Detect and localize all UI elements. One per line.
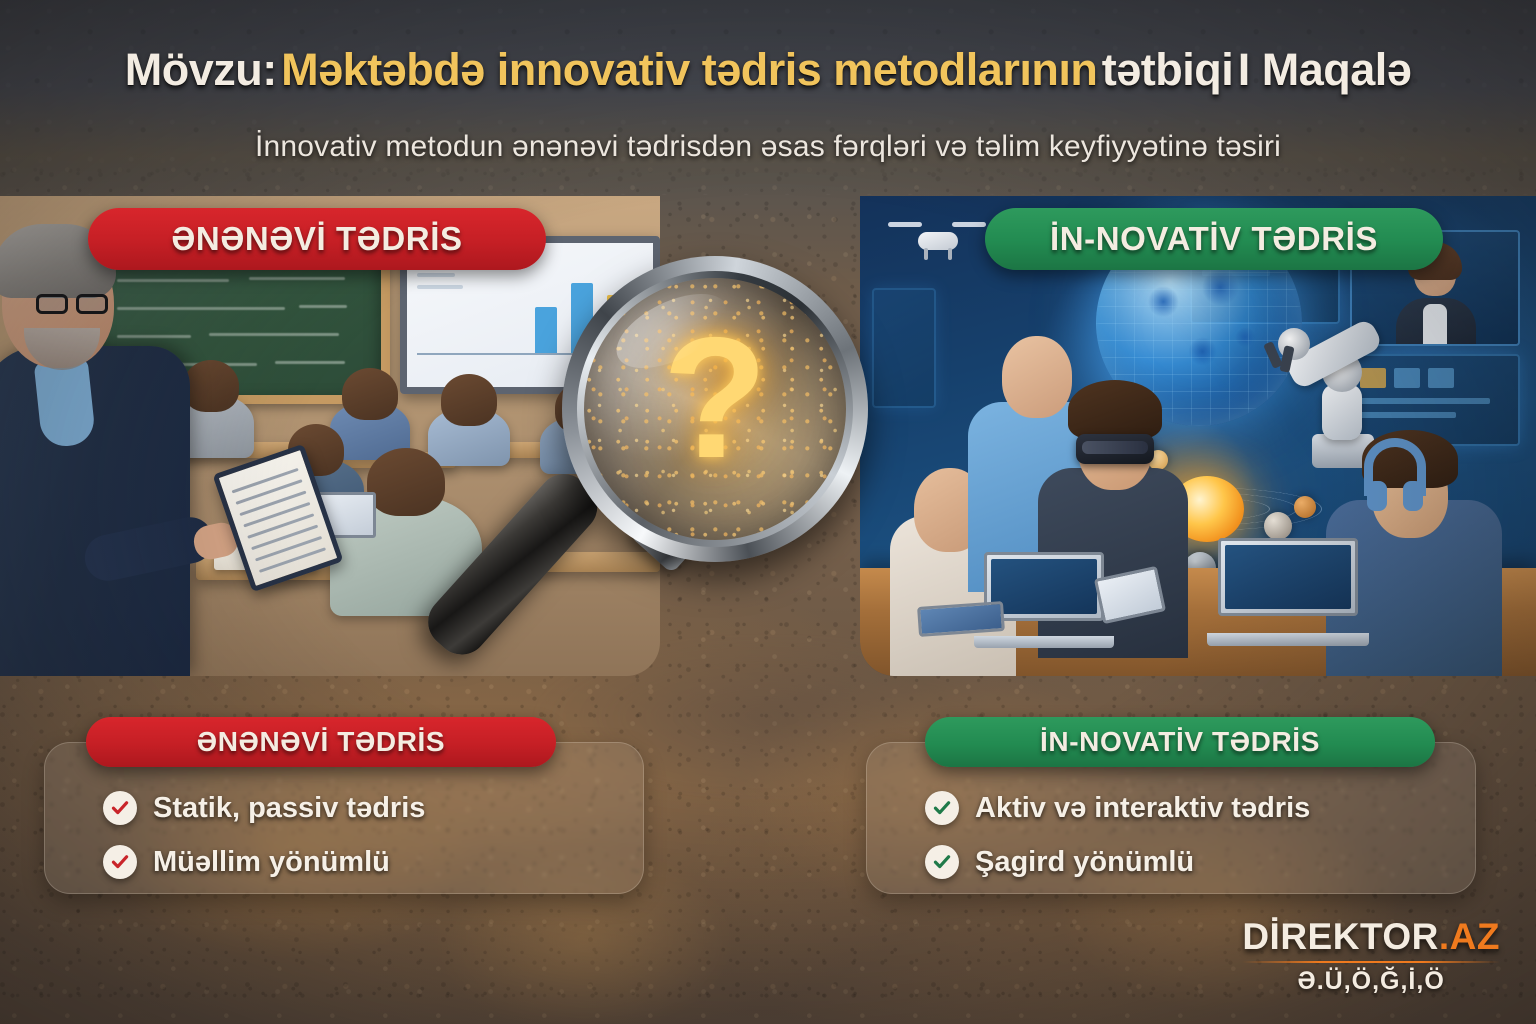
list-item-label: Müəllim yönümlü — [153, 846, 390, 879]
list-item-label: Şagird yönümlü — [975, 846, 1194, 879]
list-item-label: Aktiv və interaktiv tədris — [975, 792, 1310, 825]
list-item: Aktiv və interaktiv tədris — [925, 791, 1457, 825]
magnifier-lens: ? — [584, 278, 846, 540]
badge-traditional-top: ƏNƏNƏVİ TƏDRİS — [88, 208, 546, 270]
page-title: Mövzu: Məktəbdə innovativ tədris metodla… — [0, 44, 1536, 96]
title-suffix: tətbiqi — [1102, 44, 1233, 95]
brand-logo-divider — [1242, 961, 1500, 963]
brand-logo-tld: .AZ — [1439, 916, 1500, 957]
title-highlight: Məktəbdə innovativ tədris metodlarının — [281, 44, 1097, 95]
brand-logo: DİREKTOR.AZ Ə.Ü,Ö,Ğ,İ,Ö — [1242, 916, 1500, 996]
badge-innovative-top: İN-NOVATİV TƏDRİS — [985, 208, 1443, 270]
title-tag: I Maqalə — [1238, 44, 1412, 95]
brand-logo-name: DİREKTOR.AZ — [1242, 916, 1500, 958]
list-item: Statik, passiv tədris — [103, 791, 625, 825]
list-item: Müəllim yönümlü — [103, 845, 625, 879]
check-circle-icon — [925, 791, 959, 825]
list-item: Şagird yönümlü — [925, 845, 1457, 879]
check-circle-icon — [103, 791, 137, 825]
list-item-label: Statik, passiv tədris — [153, 792, 425, 825]
check-circle-icon — [925, 845, 959, 879]
check-circle-icon — [103, 845, 137, 879]
magnifier-ring: ? — [562, 256, 868, 562]
infographic-poster: ? Mövzu: Məktəbdə innovativ tədris metod… — [0, 0, 1536, 1024]
magnifying-glass-icon: ? — [540, 248, 890, 718]
title-prefix: Mövzu: — [125, 44, 277, 95]
page-subtitle: İnnovativ metodun ənənəvi tədrisdən əsas… — [0, 130, 1536, 164]
badge-innovative-card: İN-NOVATİV TƏDRİS — [925, 717, 1435, 767]
brand-logo-subtitle: Ə.Ü,Ö,Ğ,İ,Ö — [1242, 967, 1500, 996]
badge-traditional-card: ƏNƏNƏVİ TƏDRİS — [86, 717, 556, 767]
brand-logo-word: DİREKTOR — [1242, 916, 1439, 957]
